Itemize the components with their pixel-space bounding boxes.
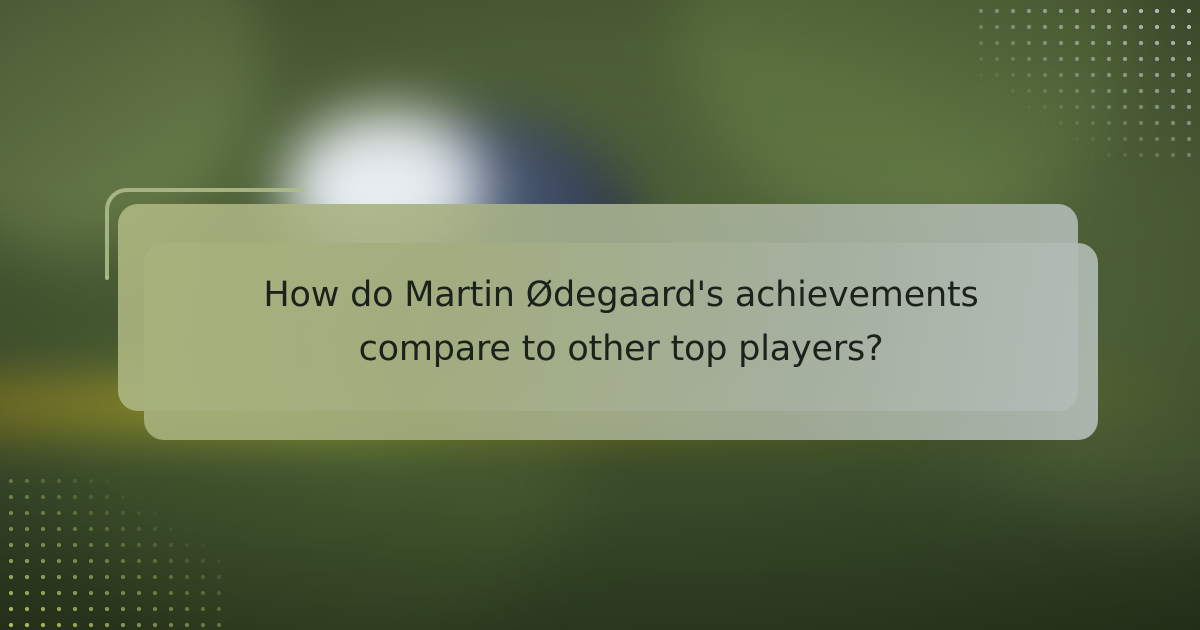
headline-block: How do Martin Ødegaard's achievements co… xyxy=(144,204,1098,440)
social-card-canvas: How do Martin Ødegaard's achievements co… xyxy=(0,0,1200,630)
headline-line-2: compare to other top players? xyxy=(359,327,884,371)
headline-line-1: How do Martin Ødegaard's achievements xyxy=(263,273,978,317)
